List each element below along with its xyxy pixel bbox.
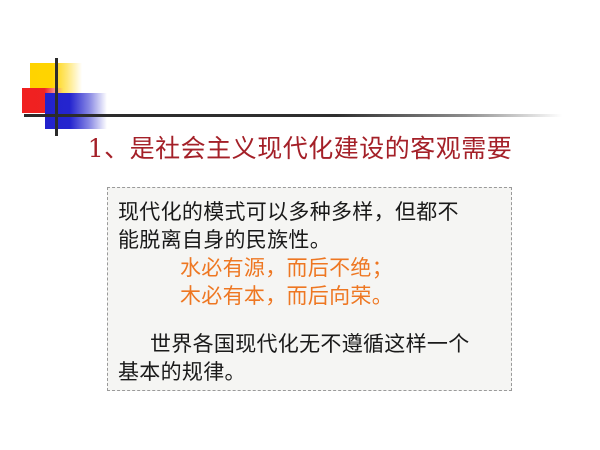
vertical-rule — [55, 58, 58, 136]
quote-text-line: 水必有源，而后不绝； — [118, 254, 503, 282]
body-text-line: 基本的规律。 — [118, 358, 503, 386]
body-text-line: 世界各国现代化无不遵循这样一个 — [118, 330, 503, 358]
body-text-line: 现代化的模式可以多种多样，但都不 — [118, 198, 503, 226]
page-title: 1、是社会主义现代化建设的客观需要 — [0, 133, 600, 165]
horizontal-rule — [24, 114, 562, 117]
body-text-line: 能脱离自身的民族性。 — [118, 226, 503, 254]
decorative-logo-group — [0, 0, 600, 150]
paragraph-spacer — [118, 310, 503, 330]
quote-text-line: 木必有本，而后向荣。 — [118, 282, 503, 310]
content-box: 现代化的模式可以多种多样，但都不 能脱离自身的民族性。 水必有源，而后不绝； 木… — [107, 187, 512, 391]
slide-canvas: 1、是社会主义现代化建设的客观需要 现代化的模式可以多种多样，但都不 能脱离自身… — [0, 0, 600, 450]
